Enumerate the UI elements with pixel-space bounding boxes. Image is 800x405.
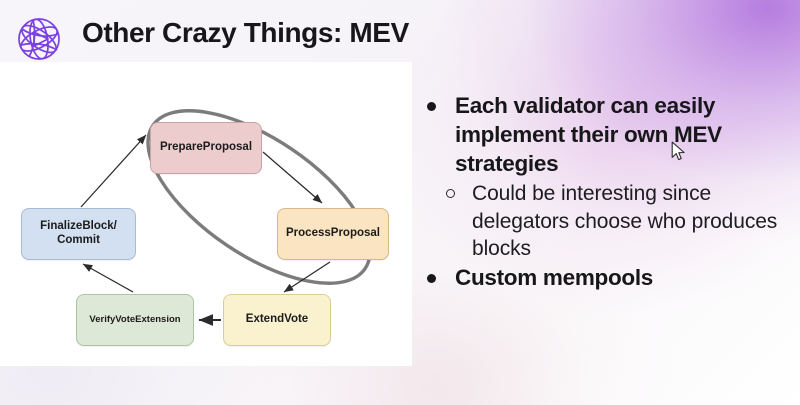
node-label-line2: Commit [40, 234, 117, 248]
hand-drawn-ellipse-highlight [120, 77, 397, 316]
bullet-item-1: Each validator can easily implement thei… [420, 92, 792, 178]
edge-prepare-to-process [263, 152, 322, 203]
node-verify-vote-extension[interactable]: VerifyVoteExtension [76, 294, 194, 346]
bullet-list: Each validator can easily implement thei… [420, 92, 792, 293]
edge-verify-to-finalize [83, 264, 133, 292]
bullet-item-2: Could be interesting since delegators ch… [420, 180, 792, 262]
node-label: PrepareProposal [160, 141, 252, 155]
node-label: ExtendVote [246, 313, 308, 327]
filled-disc-icon [427, 274, 436, 283]
bullet-item-3: Custom mempools [420, 264, 792, 293]
slide-canvas: Other Crazy Things: MEV Prepa [0, 0, 800, 405]
hollow-circle-icon [446, 189, 455, 198]
node-extend-vote[interactable]: ExtendVote [223, 294, 331, 346]
node-process-proposal[interactable]: ProcessProposal [277, 208, 389, 260]
bullet-text: Could be interesting since delegators ch… [472, 180, 792, 262]
node-label: VerifyVoteExtension [89, 314, 180, 325]
bullet-text: Custom mempools [455, 264, 653, 293]
abci-lifecycle-diagram: PrepareProposal FinalizeBlock/ Commit Pr… [0, 62, 412, 366]
filled-disc-icon [427, 102, 436, 111]
node-label-line1: FinalizeBlock/ [40, 220, 117, 234]
edge-finalize-to-prepare [81, 135, 146, 207]
node-finalize-block-commit[interactable]: FinalizeBlock/ Commit [21, 208, 136, 260]
globe-network-icon [12, 12, 66, 66]
bullet-text: Each validator can easily implement thei… [455, 92, 792, 178]
node-prepare-proposal[interactable]: PrepareProposal [150, 122, 262, 174]
node-label: ProcessProposal [286, 227, 380, 241]
page-title: Other Crazy Things: MEV [82, 17, 409, 49]
